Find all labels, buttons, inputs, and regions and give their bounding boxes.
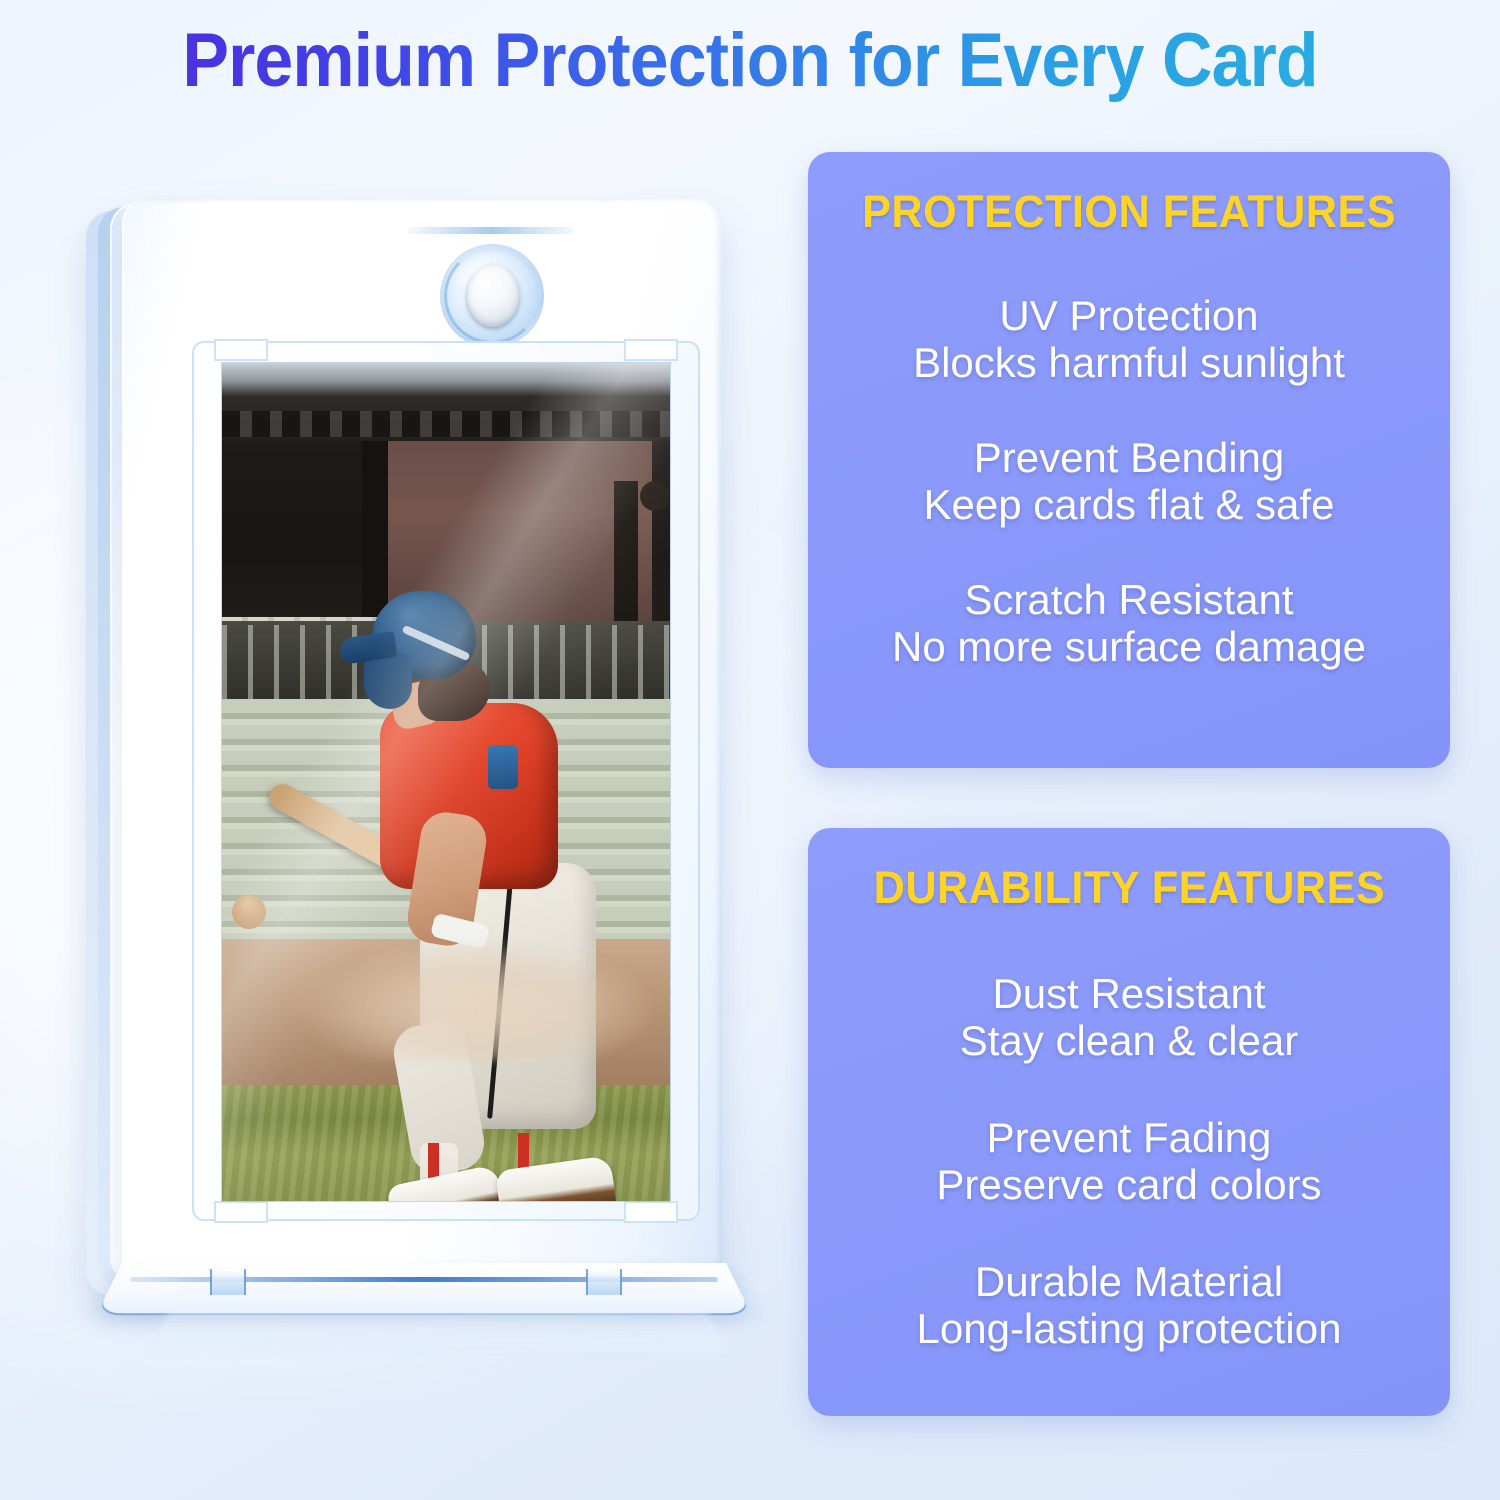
card-frame <box>192 341 700 1221</box>
wall-column-right <box>614 481 638 629</box>
feature-item: UV Protection Blocks harmful sunlight <box>913 292 1345 386</box>
feature-item: Scratch Resistant No more surface damage <box>892 576 1366 670</box>
frame-notch-top-right <box>624 339 678 361</box>
holder-shell <box>122 199 722 1284</box>
wall-column-left <box>362 441 388 627</box>
magnet-icon <box>467 265 519 327</box>
wall-speaker <box>640 481 670 511</box>
feature-subtext: No more surface damage <box>892 623 1366 670</box>
feature-subtext: Blocks harmful sunlight <box>913 339 1345 386</box>
feature-heading: Scratch Resistant <box>892 576 1366 623</box>
surface-reflection <box>148 1279 728 1353</box>
feature-item: Durable Material Long-lasting protection <box>917 1258 1342 1352</box>
page-title: Premium Protection for Every Card <box>182 17 1317 104</box>
helmet-ear-flap <box>364 653 412 709</box>
panel-durability-features: DURABILITY FEATURES Dust Resistant Stay … <box>808 828 1450 1416</box>
frame-notch-bottom-left <box>214 1201 268 1223</box>
frame-notch-top-left <box>214 339 268 361</box>
jersey-logo-patch <box>488 745 518 789</box>
durability-feature-list: Dust Resistant Stay clean & clear Preven… <box>808 914 1450 1352</box>
panel-protection-title: PROTECTION FEATURES <box>862 186 1396 238</box>
panel-durability-title: DURABILITY FEATURES <box>873 862 1385 914</box>
feature-heading: Prevent Bending <box>924 434 1335 481</box>
feature-item: Prevent Bending Keep cards flat & safe <box>924 434 1335 528</box>
feature-subtext: Keep cards flat & safe <box>924 481 1335 528</box>
roof-beam-pattern <box>222 411 670 437</box>
feature-subtext: Stay clean & clear <box>960 1017 1299 1064</box>
feature-subtext: Long-lasting protection <box>917 1305 1342 1352</box>
protection-feature-list: UV Protection Blocks harmful sunlight Pr… <box>808 238 1450 670</box>
magnet-seam <box>408 227 574 234</box>
feature-subtext: Preserve card colors <box>936 1161 1321 1208</box>
panel-protection-features: PROTECTION FEATURES UV Protection Blocks… <box>808 152 1450 768</box>
feature-item: Dust Resistant Stay clean & clear <box>960 970 1299 1064</box>
headline-banner: Premium Protection for Every Card <box>0 0 1500 120</box>
trading-card-photo <box>222 363 670 1201</box>
dust-cloud <box>262 931 652 1061</box>
feature-heading: Prevent Fading <box>936 1114 1321 1161</box>
feature-heading: Durable Material <box>917 1258 1342 1305</box>
frame-notch-bottom-right <box>624 1201 678 1223</box>
feature-heading: Dust Resistant <box>960 970 1299 1017</box>
feature-heading: UV Protection <box>913 292 1345 339</box>
feature-item: Prevent Fading Preserve card colors <box>936 1114 1321 1208</box>
product-image-magnetic-card-holder <box>78 185 758 1365</box>
